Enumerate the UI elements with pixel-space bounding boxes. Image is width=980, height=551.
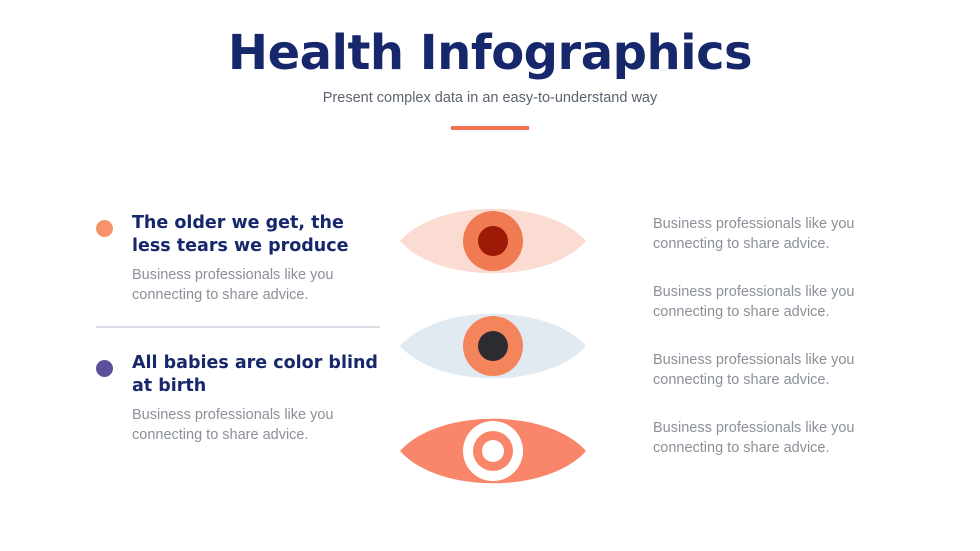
- eye-row-2: [398, 301, 588, 391]
- left-block-2-body: Business professionals like you connecti…: [132, 405, 386, 445]
- eye-pale-blue-icon: [398, 301, 588, 391]
- bullet-dot-icon: [96, 220, 113, 237]
- left-block-1-heading: The older we get, the less tears we prod…: [132, 212, 386, 258]
- right-block-4: Business professionals like you connecti…: [653, 418, 883, 458]
- left-block-1-body: Business professionals like you connecti…: [132, 265, 386, 305]
- slide: Health Infographics Present complex data…: [0, 0, 980, 551]
- eye-row-1: [398, 196, 588, 286]
- bullet-dot-icon: [96, 360, 113, 377]
- page-subtitle: Present complex data in an easy-to-under…: [0, 90, 980, 106]
- page-title: Health Infographics: [0, 28, 980, 78]
- center-column: [398, 196, 588, 496]
- eye-pale-coral-icon: [398, 196, 588, 286]
- left-block-2: All babies are color blind at birth Busi…: [96, 352, 386, 445]
- accent-divider: [451, 126, 529, 130]
- left-block-1: The older we get, the less tears we prod…: [96, 212, 386, 328]
- left-column: The older we get, the less tears we prod…: [96, 212, 386, 445]
- slide-header: Health Infographics Present complex data…: [0, 28, 980, 130]
- right-block-3: Business professionals like you connecti…: [653, 350, 883, 390]
- right-column: Business professionals like you connecti…: [653, 214, 883, 458]
- section-divider: [96, 326, 380, 328]
- content-area: The older we get, the less tears we prod…: [0, 196, 980, 506]
- right-block-2: Business professionals like you connecti…: [653, 282, 883, 322]
- right-block-1: Business professionals like you connecti…: [653, 214, 883, 254]
- eye-row-3: [398, 406, 588, 496]
- eye-solid-coral-icon: [398, 406, 588, 496]
- left-block-2-heading: All babies are color blind at birth: [132, 352, 386, 398]
